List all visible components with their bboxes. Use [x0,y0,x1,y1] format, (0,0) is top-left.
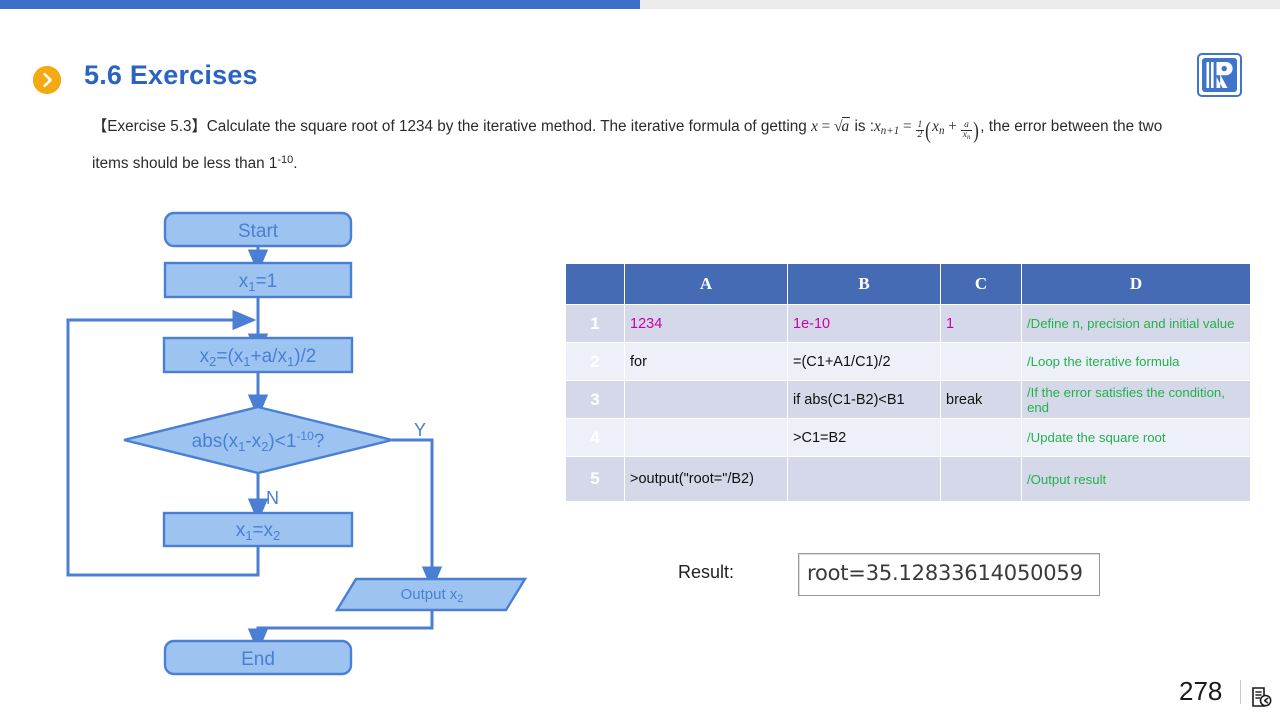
table-row: 4 >C1=B2 /Update the square root [566,419,1251,457]
column-header-c: C [941,264,1022,305]
table-row: 1 1234 1e-10 1 /Define n, precision and … [566,305,1251,343]
formula-half-fraction: 12 [916,121,925,141]
spreadsheet-code-table: A B C D 1 1234 1e-10 1 /Define n, precis… [565,263,1251,502]
row-header-5: 5 [566,457,625,502]
cell-c4[interactable] [941,419,1022,457]
table-row: 2 for =(C1+A1/C1)/2 /Loop the iterative … [566,343,1251,381]
algorithm-flowchart: Start x1=1 x2=(x1+a/x1)/2 abs(x1-x2)<1-1… [40,200,560,690]
row-header-1: 1 [566,305,625,343]
row-header-3: 3 [566,381,625,419]
cell-d2[interactable]: /Loop the iterative formula [1022,343,1251,381]
cell-a2[interactable]: for [625,343,788,381]
progress-fill [0,0,640,9]
formula-equals: = [818,118,834,135]
cell-b4[interactable]: >C1=B2 [788,419,941,457]
fraction-denominator: 2 [916,131,925,141]
flow-node-init: x1=1 [165,263,351,297]
paragraph-suffix-exponent: -10 [277,154,293,166]
result-value: root=35.12833614050059 [807,561,1083,585]
column-header-b: B [788,264,941,305]
cell-c5[interactable] [941,457,1022,502]
column-header-d: D [1022,264,1251,305]
formula-sqrt-arg: a [842,117,851,135]
formula-plus: + [944,118,960,135]
svg-text:x2=(x1+a/x1)/2: x2=(x1+a/x1)/2 [200,346,317,369]
flow-node-end: End [165,641,351,674]
flow-node-start: Start [165,213,351,246]
footer-divider [1240,680,1241,704]
cell-c3[interactable]: break [941,381,1022,419]
svg-text:End: End [241,649,275,670]
formula-connector: is : [850,118,874,135]
formula-x-next: x [874,118,881,135]
flow-node-output: Output x2 [337,579,525,610]
column-header-corner [566,264,625,305]
paragraph-period: . [293,155,297,172]
flow-node-iterate: x2=(x1+a/x1)/2 [164,338,352,372]
table-header-row: A B C D [566,264,1251,305]
cell-b5[interactable] [788,457,941,502]
branch-label-yes: Y [414,420,426,440]
svg-text:x1=1: x1=1 [239,271,277,294]
exercise-paragraph: 【Exercise 5.3】Calculate the square root … [92,112,1192,178]
row-header-2: 2 [566,343,625,381]
open-paren: ( [925,117,931,146]
close-paren: ) [973,117,979,146]
svg-text:Start: Start [238,221,279,242]
cell-a5[interactable]: >output("root="/B2) [625,457,788,502]
page-number: 278 [1179,676,1222,707]
top-progress-bar [0,0,1280,9]
table-row: 5 >output("root="/B2) /Output result [566,457,1251,502]
branch-label-no: N [266,488,279,508]
formula-equals-2: = [899,118,915,135]
chevron-right-circle-icon [33,66,61,94]
cell-b3[interactable]: if abs(C1-B2)<B1 [788,381,941,419]
cell-c2[interactable] [941,343,1022,381]
paragraph-prefix: 【Exercise 5.3】Calculate the square root … [92,118,811,135]
cell-c1[interactable]: 1 [941,305,1022,343]
flow-node-update: x1=x2 [164,513,352,546]
cell-b2[interactable]: =(C1+A1/C1)/2 [788,343,941,381]
slide-header: 5.6 Exercises [0,22,1280,84]
cell-a4[interactable] [625,419,788,457]
formula-inner-x: x [932,118,939,135]
document-back-icon[interactable] [1250,686,1272,708]
cell-a1[interactable]: 1234 [625,305,788,343]
formula-x: x [811,118,818,135]
formula-x-next-subscript: n+1 [881,125,899,137]
brand-logo-icon [1197,53,1242,97]
page-title: 5.6 Exercises [84,60,258,91]
formula-a-over-xn: axn [961,121,973,143]
cell-a3[interactable] [625,381,788,419]
cell-d1[interactable]: /Define n, precision and initial value [1022,305,1251,343]
column-header-a: A [625,264,788,305]
flow-node-decision: abs(x1-x2)<1-10? [124,407,392,473]
inner-den-subscript: n [967,134,970,141]
cell-d3[interactable]: /If the error satisfies the condition, e… [1022,381,1251,419]
row-header-4: 4 [566,419,625,457]
cell-d4[interactable]: /Update the square root [1022,419,1251,457]
table-row: 3 if abs(C1-B2)<B1 break /If the error s… [566,381,1251,419]
inner-fraction-denominator: xn [961,131,973,142]
cell-d5[interactable]: /Output result [1022,457,1251,502]
result-output-box: root=35.12833614050059 [798,553,1100,596]
cell-b1[interactable]: 1e-10 [788,305,941,343]
result-label: Result: [678,562,734,583]
svg-text:Output x2: Output x2 [401,586,464,605]
